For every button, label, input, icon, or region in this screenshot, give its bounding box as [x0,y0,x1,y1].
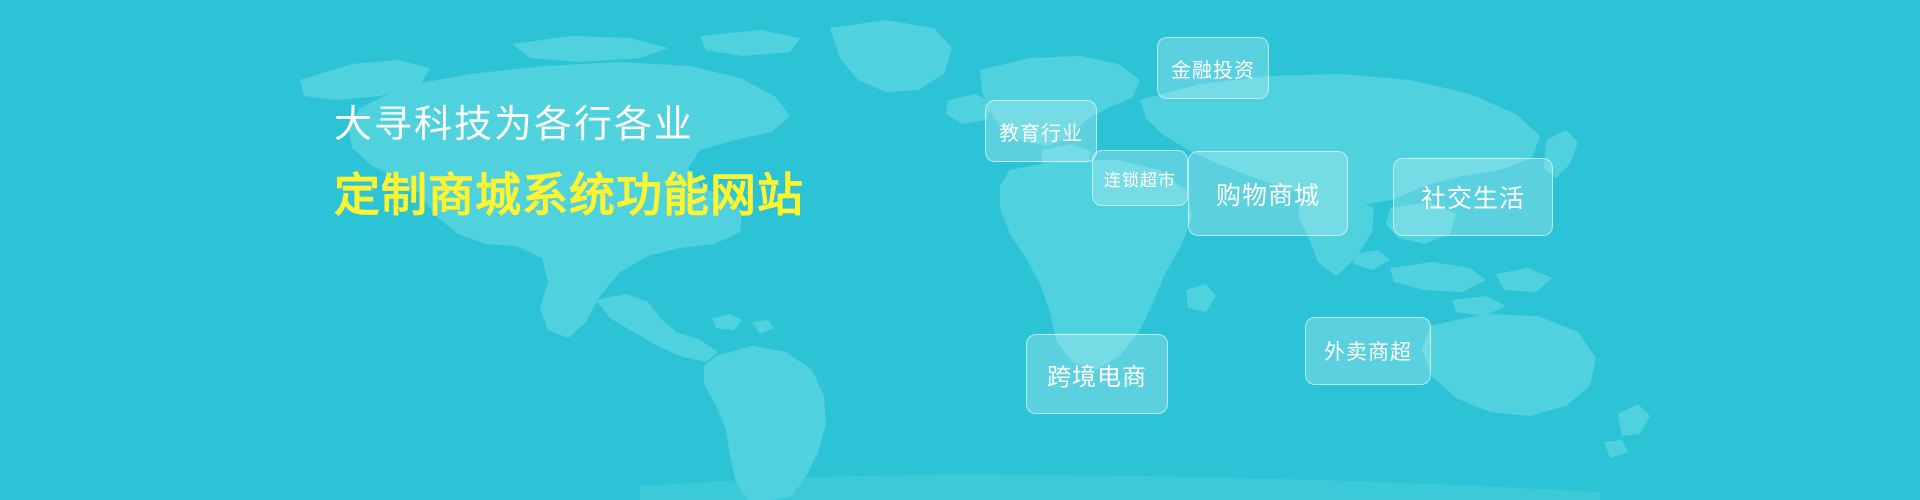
industry-card-takeaway[interactable]: 外卖商超 [1305,317,1431,385]
industry-card-education[interactable]: 教育行业 [985,100,1097,162]
world-map-landmasses [300,20,1650,500]
industry-card-finance[interactable]: 金融投资 [1157,37,1269,99]
headline-block: 大寻科技为各行各业 定制商城系统功能网站 [334,98,954,224]
industry-card-label: 连锁超市 [1104,166,1176,191]
hero-banner: 大寻科技为各行各业 定制商城系统功能网站 金融投资教育行业连锁超市购物商城社交生… [0,0,1920,500]
industry-card-supermarket-chain[interactable]: 连锁超市 [1092,150,1188,206]
industry-card-label: 教育行业 [999,117,1083,146]
industry-card-label: 外卖商超 [1324,336,1412,366]
banner-subtitle: 大寻科技为各行各业 [334,98,954,152]
banner-title: 定制商城系统功能网站 [334,166,954,224]
industry-card-label: 跨境电商 [1047,357,1147,392]
industry-card-social-life[interactable]: 社交生活 [1393,158,1553,236]
world-map-background [0,0,1920,500]
industry-card-label: 金融投资 [1171,54,1255,83]
industry-card-shopping-mall[interactable]: 购物商城 [1188,151,1348,236]
industry-card-label: 社交生活 [1421,179,1525,215]
industry-card-cross-border-ecommerce[interactable]: 跨境电商 [1026,334,1168,414]
industry-card-label: 购物商城 [1216,176,1320,212]
